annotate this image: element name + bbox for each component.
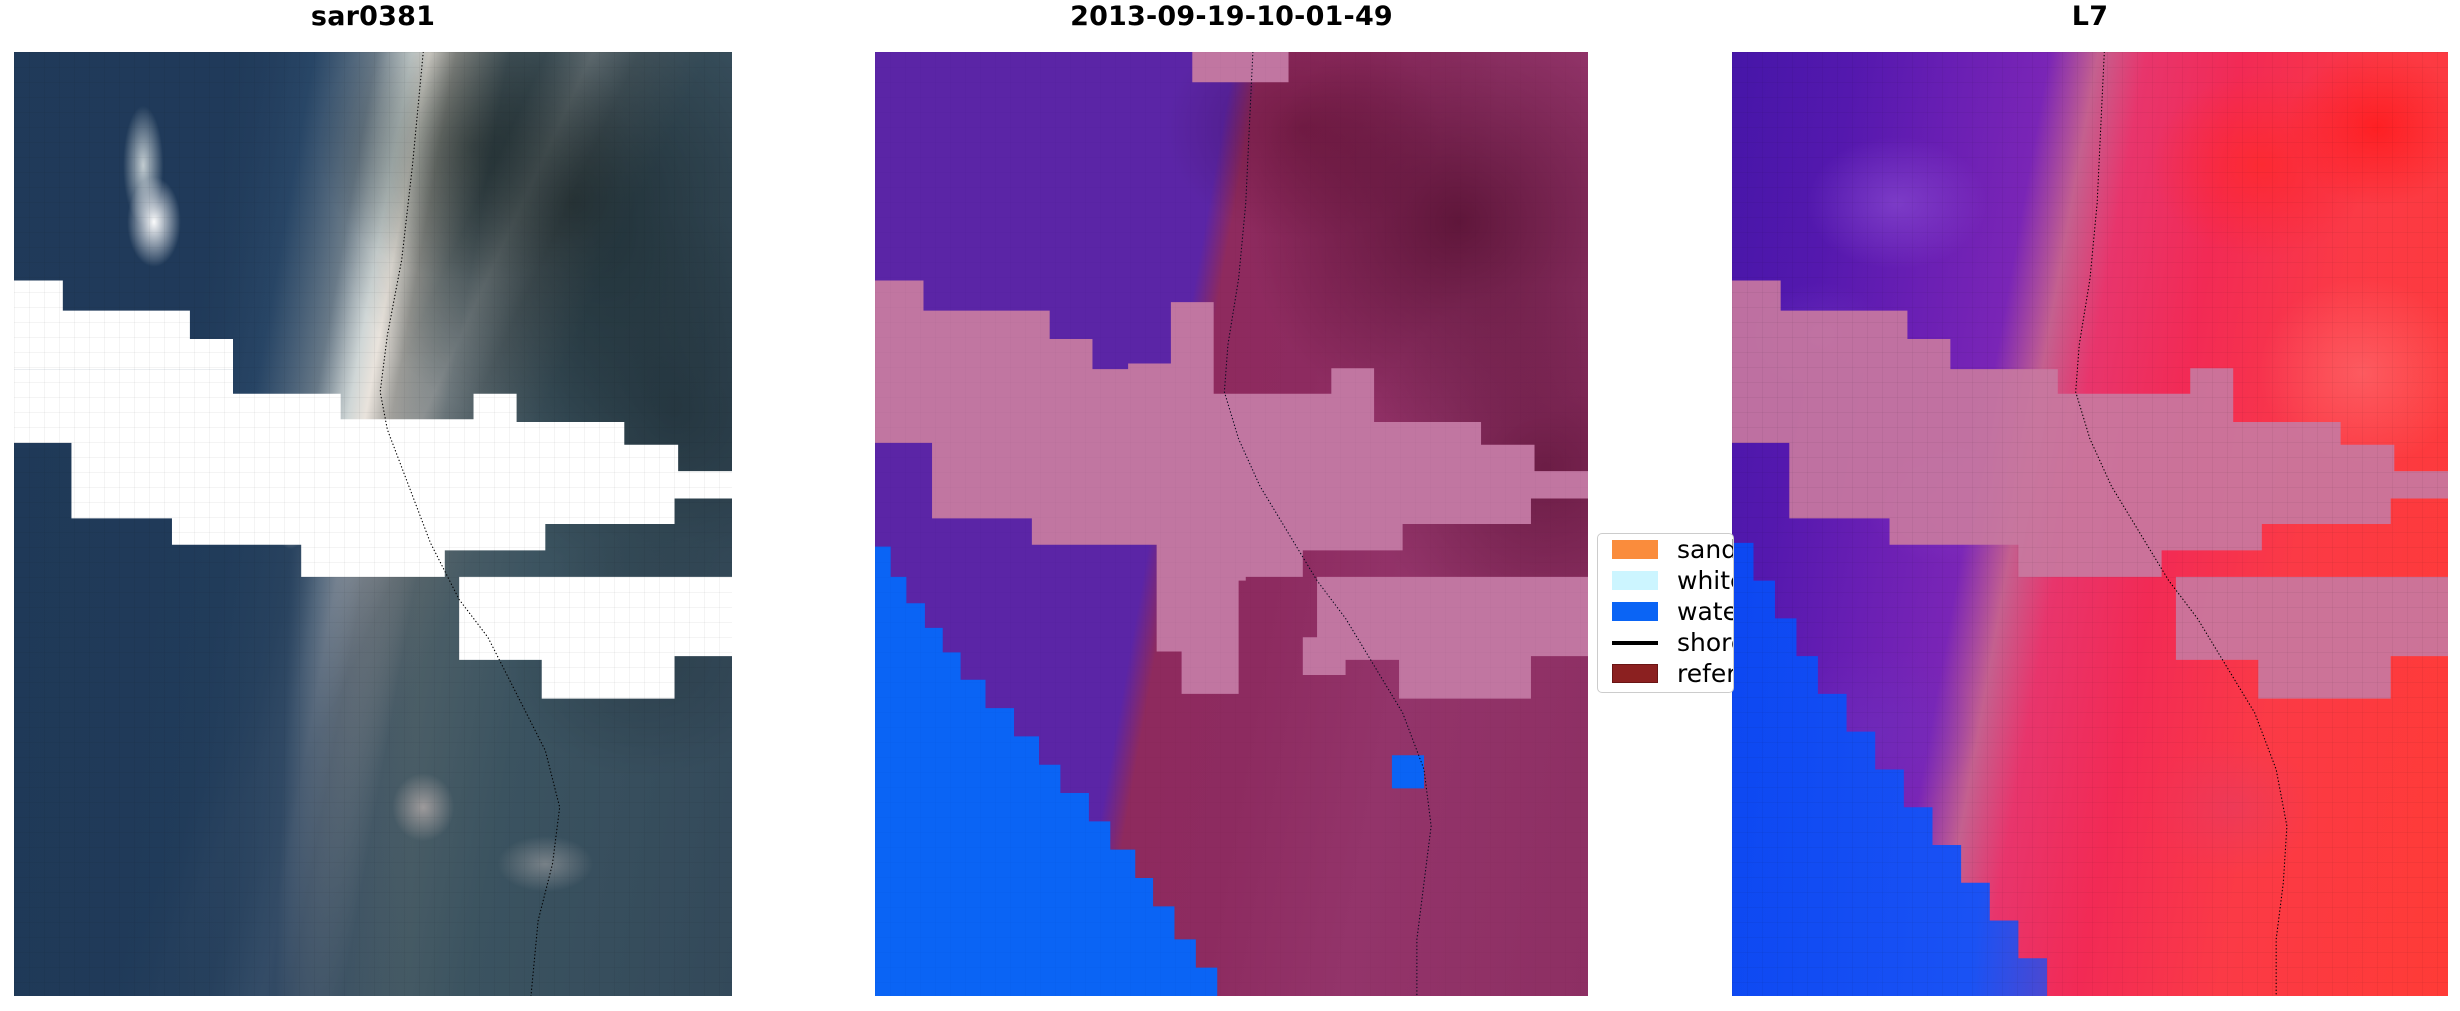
shoreline-line-icon xyxy=(1612,641,1658,645)
reference-shoreline-swatch-icon xyxy=(1612,664,1658,683)
panel-title-1: sar0381 xyxy=(14,0,732,34)
legend-item-shoreline[interactable]: shoreline xyxy=(1598,627,1733,658)
whitewater-swatch-icon xyxy=(1612,571,1658,590)
legend-item-reference-shoreline[interactable]: reference shoreline xyxy=(1598,658,1733,689)
sand-swatch-icon xyxy=(1612,540,1658,559)
legend-label-whitewater: whitewater xyxy=(1677,568,1734,593)
panel-classified-image: 2013-09-19-10-01-49 xyxy=(875,0,1588,996)
panel-satellite-rgb: sar0381 xyxy=(14,0,732,996)
water-swatch-icon xyxy=(1612,602,1658,621)
panel-index-image: L7 xyxy=(1732,0,2448,996)
legend-label-reference-shoreline: reference shoreline xyxy=(1677,661,1734,686)
panel-title-2: 2013-09-19-10-01-49 xyxy=(875,0,1588,34)
figure-canvas: sar0381 2013-09-19-10-01-49 xyxy=(0,0,2460,1011)
legend-item-whitewater[interactable]: whitewater xyxy=(1598,565,1733,596)
index-image[interactable] xyxy=(1732,52,2448,996)
legend-item-water[interactable]: water xyxy=(1598,596,1733,627)
classified-image[interactable] xyxy=(875,52,1588,996)
classification-legend[interactable]: sand whitewater water shoreline referenc… xyxy=(1597,533,1734,693)
legend-item-sand[interactable]: sand xyxy=(1598,534,1733,565)
satellite-rgb-image[interactable] xyxy=(14,52,732,996)
panel-title-3: L7 xyxy=(1732,0,2448,34)
legend-label-sand: sand xyxy=(1677,537,1734,562)
legend-label-water: water xyxy=(1677,599,1734,624)
legend-label-shoreline: shoreline xyxy=(1677,630,1734,655)
